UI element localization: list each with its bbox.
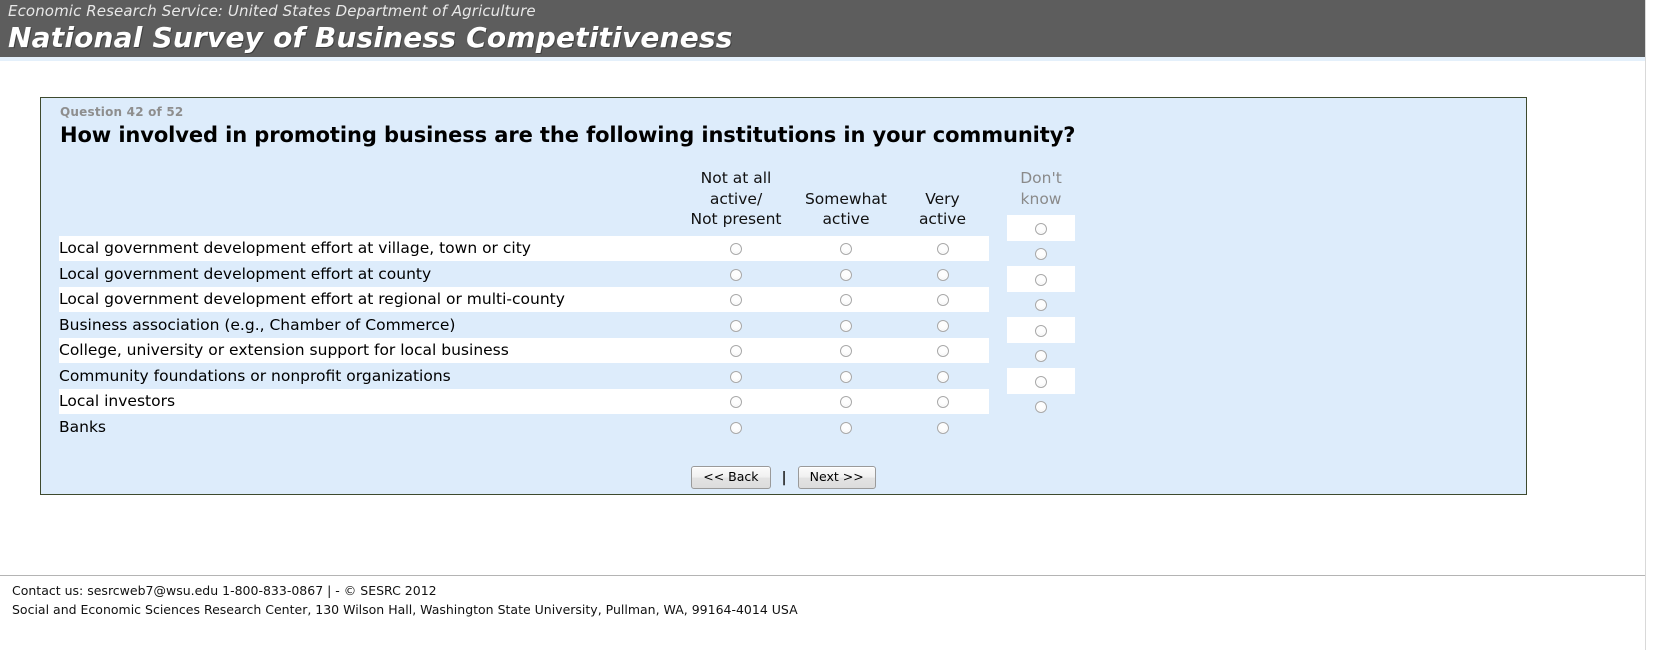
radio-button[interactable]: [1035, 223, 1047, 235]
radio-cell-dont-know[interactable]: [1007, 368, 1075, 394]
row-label: Local government development effort at c…: [59, 261, 676, 287]
radio-cell[interactable]: [676, 261, 796, 287]
radio-cell[interactable]: [896, 338, 989, 364]
table-row: [1007, 368, 1075, 394]
radio-button[interactable]: [840, 269, 852, 281]
column-header-line2: active/: [710, 190, 762, 208]
radio-button[interactable]: [730, 269, 742, 281]
footer-contact-line: Contact us: sesrcweb7@wsu.edu 1-800-833-…: [12, 581, 1312, 600]
dont-know-matrix: Don't know: [1007, 168, 1075, 419]
radio-cell[interactable]: [796, 414, 896, 440]
radio-cell[interactable]: [796, 389, 896, 415]
radio-button[interactable]: [937, 422, 949, 434]
matrix-header: Not at all active/ Not present Somewhat …: [59, 168, 989, 236]
footer-divider: [0, 575, 1645, 576]
radio-cell[interactable]: [676, 236, 796, 262]
matrix-corner: [59, 168, 676, 236]
radio-button[interactable]: [730, 294, 742, 306]
radio-cell[interactable]: [676, 363, 796, 389]
radio-cell[interactable]: [676, 414, 796, 440]
radio-cell-dont-know[interactable]: [1007, 241, 1075, 267]
radio-cell[interactable]: [896, 363, 989, 389]
radio-button[interactable]: [937, 269, 949, 281]
column-header-line3: know: [1021, 190, 1062, 208]
radio-cell[interactable]: [796, 338, 896, 364]
radio-cell[interactable]: [896, 414, 989, 440]
radio-button[interactable]: [937, 320, 949, 332]
radio-button[interactable]: [937, 294, 949, 306]
radio-button[interactable]: [840, 294, 852, 306]
radio-button[interactable]: [840, 320, 852, 332]
radio-button[interactable]: [840, 371, 852, 383]
column-header-line2: Don't: [1020, 169, 1062, 187]
table-row: [1007, 343, 1075, 369]
nav-separator: |: [781, 471, 788, 485]
back-button[interactable]: << Back: [691, 466, 770, 489]
radio-cell-dont-know[interactable]: [1007, 215, 1075, 241]
table-row: Local government development effort at v…: [59, 236, 989, 262]
column-header-line2: Somewhat: [805, 190, 887, 208]
table-row: Local investors: [59, 389, 989, 415]
table-row: [1007, 241, 1075, 267]
radio-button[interactable]: [730, 345, 742, 357]
question-text: How involved in promoting business are t…: [60, 123, 1075, 147]
table-row: [1007, 215, 1075, 241]
table-row: College, university or extension support…: [59, 338, 989, 364]
column-header-dont-know: Don't know: [1007, 168, 1075, 215]
row-label: Local government development effort at r…: [59, 287, 676, 313]
right-edge-strip: [1645, 0, 1659, 650]
radio-button[interactable]: [840, 396, 852, 408]
radio-cell[interactable]: [896, 312, 989, 338]
dont-know-header: Don't know: [1007, 168, 1075, 215]
radio-button[interactable]: [937, 243, 949, 255]
radio-button[interactable]: [840, 243, 852, 255]
row-label: Banks: [59, 414, 676, 440]
radio-cell[interactable]: [796, 363, 896, 389]
header-underline: [0, 57, 1645, 61]
table-row: Business association (e.g., Chamber of C…: [59, 312, 989, 338]
radio-cell-dont-know[interactable]: [1007, 317, 1075, 343]
table-row: Local government development effort at c…: [59, 261, 989, 287]
row-label: Business association (e.g., Chamber of C…: [59, 312, 676, 338]
radio-button[interactable]: [730, 243, 742, 255]
radio-cell[interactable]: [796, 312, 896, 338]
radio-cell-dont-know[interactable]: [1007, 292, 1075, 318]
survey-page: Economic Research Service: United States…: [0, 0, 1659, 650]
radio-button[interactable]: [937, 371, 949, 383]
radio-button[interactable]: [840, 422, 852, 434]
row-label: Local investors: [59, 389, 676, 415]
column-header-not-active: Not at all active/ Not present: [676, 168, 796, 236]
radio-cell-dont-know[interactable]: [1007, 266, 1075, 292]
radio-cell-dont-know[interactable]: [1007, 394, 1075, 420]
radio-cell[interactable]: [796, 287, 896, 313]
table-row: [1007, 317, 1075, 343]
radio-button[interactable]: [937, 396, 949, 408]
row-label: Community foundations or nonprofit organ…: [59, 363, 676, 389]
row-label: Local government development effort at v…: [59, 236, 676, 262]
radio-button[interactable]: [1035, 299, 1047, 311]
table-row: Community foundations or nonprofit organ…: [59, 363, 989, 389]
column-header-line1: Not at all: [701, 169, 772, 187]
matrix-body: Local government development effort at v…: [59, 236, 989, 440]
radio-button[interactable]: [730, 320, 742, 332]
agency-name: Economic Research Service: United States…: [8, 2, 1645, 21]
site-header: Economic Research Service: United States…: [0, 0, 1645, 57]
column-header-line3: active: [822, 210, 869, 228]
radio-button[interactable]: [1035, 350, 1047, 362]
table-row: [1007, 394, 1075, 420]
table-row: [1007, 266, 1075, 292]
radio-button[interactable]: [937, 345, 949, 357]
radio-cell[interactable]: [676, 312, 796, 338]
radio-button[interactable]: [1035, 325, 1047, 337]
radio-cell[interactable]: [796, 261, 896, 287]
radio-cell[interactable]: [896, 236, 989, 262]
radio-cell[interactable]: [896, 287, 989, 313]
radio-cell[interactable]: [896, 261, 989, 287]
dont-know-body: [1007, 215, 1075, 419]
question-panel: Question 42 of 52 How involved in promot…: [40, 97, 1527, 495]
radio-button[interactable]: [840, 345, 852, 357]
column-header-line3: active: [919, 210, 966, 228]
column-header-very-active: Very active: [896, 168, 989, 236]
column-header-somewhat-active: Somewhat active: [796, 168, 896, 236]
survey-title: National Survey of Business Competitiven…: [8, 21, 1645, 54]
radio-button[interactable]: [1035, 274, 1047, 286]
radio-button[interactable]: [730, 396, 742, 408]
answer-matrix: Not at all active/ Not present Somewhat …: [59, 168, 989, 440]
radio-button[interactable]: [1035, 376, 1047, 388]
column-header-line2: Very: [925, 190, 959, 208]
question-counter: Question 42 of 52: [60, 105, 183, 119]
table-row: Local government development effort at r…: [59, 287, 989, 313]
radio-cell[interactable]: [676, 338, 796, 364]
next-button[interactable]: Next >>: [798, 466, 876, 489]
radio-cell[interactable]: [676, 389, 796, 415]
radio-cell[interactable]: [676, 287, 796, 313]
column-header-line3: Not present: [690, 210, 781, 228]
radio-button[interactable]: [730, 371, 742, 383]
radio-button[interactable]: [1035, 248, 1047, 260]
radio-cell[interactable]: [896, 389, 989, 415]
table-row: [1007, 292, 1075, 318]
radio-button[interactable]: [730, 422, 742, 434]
answer-grid: Not at all active/ Not present Somewhat …: [59, 168, 1094, 440]
radio-cell[interactable]: [796, 236, 896, 262]
footer-address-line: Social and Economic Sciences Research Ce…: [12, 600, 1312, 619]
radio-button[interactable]: [1035, 401, 1047, 413]
radio-cell-dont-know[interactable]: [1007, 343, 1075, 369]
site-footer: Contact us: sesrcweb7@wsu.edu 1-800-833-…: [12, 581, 1312, 619]
table-row: Banks: [59, 414, 989, 440]
navigation-bar: << Back | Next >>: [41, 466, 1526, 489]
row-label: College, university or extension support…: [59, 338, 676, 364]
